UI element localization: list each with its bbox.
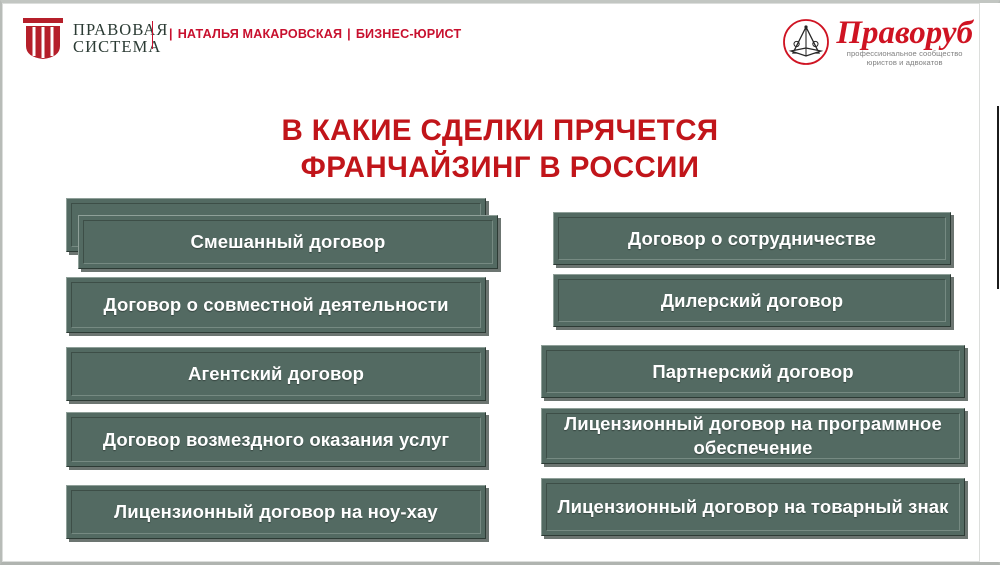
tile-left-3-label: Агентский договор — [188, 362, 364, 386]
tile-left-1-label: Смешанный договор — [191, 230, 386, 254]
tile-right-4-label: Лицензионный договор на программное обес… — [552, 412, 954, 460]
contract-tiles: Смешанный договор Договор о совместной д… — [0, 0, 1000, 565]
tile-right-4[interactable]: Лицензионный договор на программное обес… — [541, 408, 965, 464]
slide-canvas: ПРАВОВАЯ СИСТЕМА |НАТАЛЬЯ МАКАРОВСКАЯ|БИ… — [0, 0, 1000, 565]
tile-left-4-label: Договор возмездного оказания услуг — [103, 428, 449, 452]
tile-left-1[interactable]: Смешанный договор — [78, 215, 498, 269]
tile-left-2-label: Договор о совместной деятельности — [103, 293, 448, 317]
tile-right-5-label: Лицензионный договор на товарный знак — [558, 495, 949, 519]
tile-right-1[interactable]: Договор о сотрудничестве — [553, 212, 951, 265]
vertical-scrollbar-thumb[interactable] — [997, 106, 999, 289]
tile-left-5[interactable]: Лицензионный договор на ноу-хау — [66, 485, 486, 539]
tile-right-3-label: Партнерский договор — [652, 360, 853, 384]
tile-right-2-label: Дилерский договор — [661, 289, 843, 313]
tile-right-3[interactable]: Партнерский договор — [541, 345, 965, 398]
tile-right-5[interactable]: Лицензионный договор на товарный знак — [541, 478, 965, 536]
tile-left-2[interactable]: Договор о совместной деятельности — [66, 277, 486, 333]
tile-left-5-label: Лицензионный договор на ноу-хау — [114, 500, 438, 524]
tile-left-4[interactable]: Договор возмездного оказания услуг — [66, 412, 486, 467]
tile-right-1-label: Договор о сотрудничестве — [628, 227, 876, 251]
tile-left-3[interactable]: Агентский договор — [66, 347, 486, 401]
tile-right-2[interactable]: Дилерский договор — [553, 274, 951, 327]
